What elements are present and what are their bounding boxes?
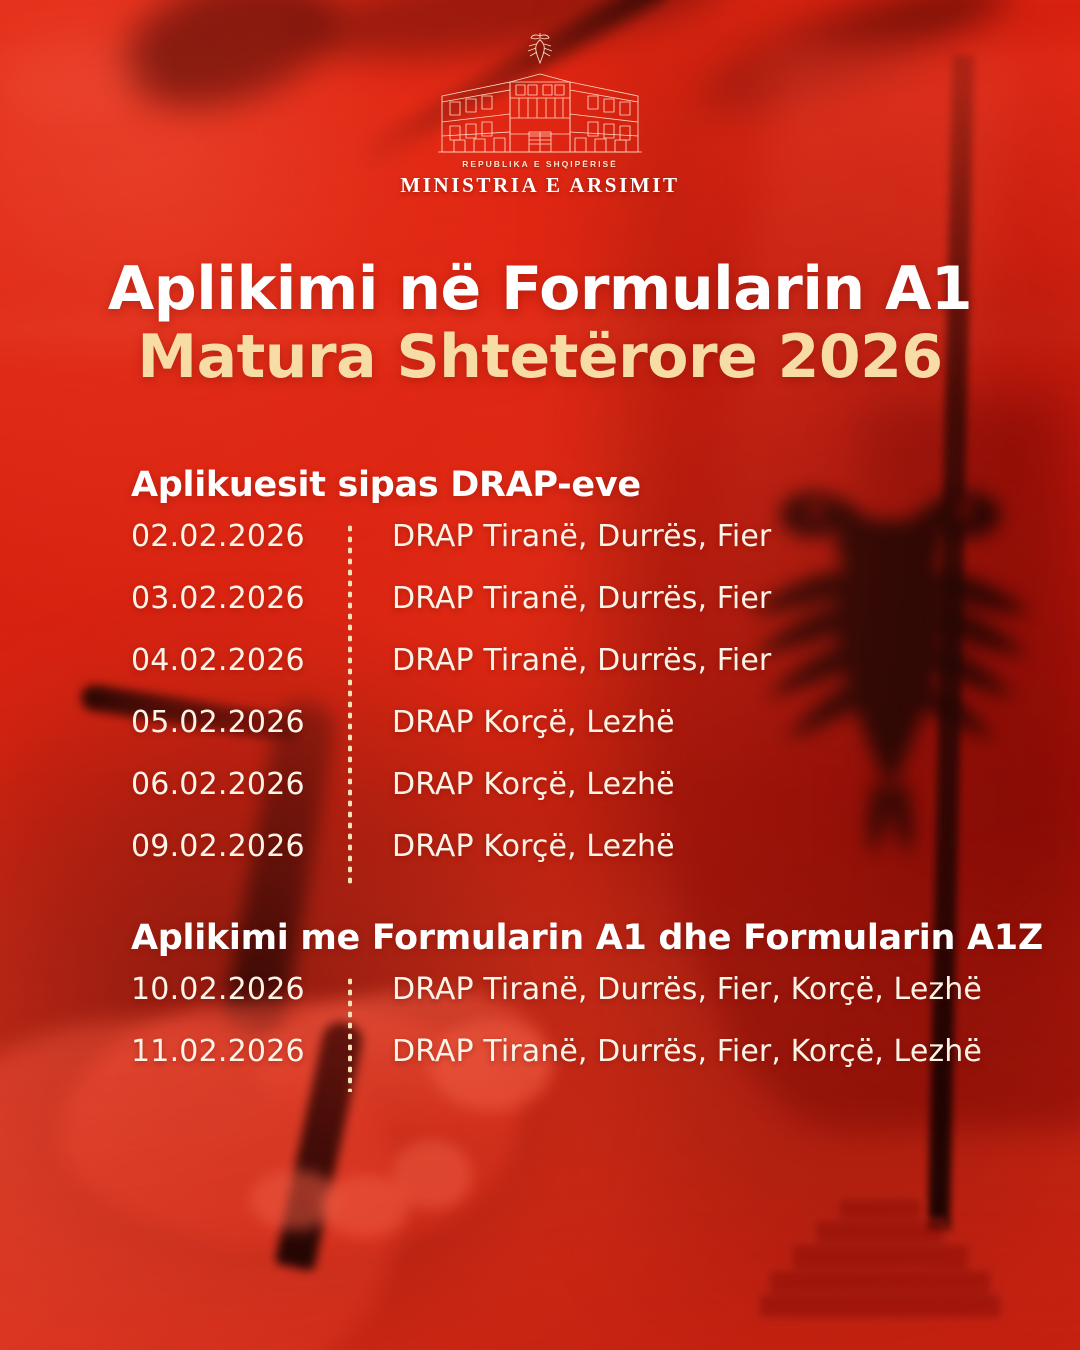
table-row: 06.02.2026 DRAP Korçë, Lezhë — [131, 767, 1040, 829]
row-location: DRAP Tiranë, Durrës, Fier — [348, 519, 771, 554]
row-date: 05.02.2026 — [131, 705, 348, 740]
table-row: 11.02.2026 DRAP Tiranë, Durrës, Fier, Ko… — [131, 1034, 1040, 1096]
poster-content: REPUBLIKA E SHQIPËRISË MINISTRIA E ARSIM… — [0, 0, 1080, 1350]
dotted-divider — [348, 976, 352, 1092]
row-date: 11.02.2026 — [131, 1034, 348, 1069]
table-row: 02.02.2026 DRAP Tiranë, Durrës, Fier — [131, 519, 1040, 581]
poster-title: Aplikimi në Formularin A1 Matura Shtetër… — [0, 258, 1080, 389]
ministry-logo: REPUBLIKA E SHQIPËRISË MINISTRIA E ARSIM… — [0, 30, 1080, 198]
row-date: 04.02.2026 — [131, 643, 348, 678]
schedule-rows: 10.02.2026 DRAP Tiranë, Durrës, Fier, Ko… — [131, 972, 1040, 1096]
albanian-eagle-crest-icon — [522, 30, 558, 66]
table-row: 05.02.2026 DRAP Korçë, Lezhë — [131, 705, 1040, 767]
row-location: DRAP Korçë, Lezhë — [348, 829, 675, 864]
title-line-2: Matura Shtetërore 2026 — [0, 326, 1080, 390]
ministry-building-icon — [424, 68, 656, 156]
row-date: 03.02.2026 — [131, 581, 348, 616]
dotted-divider — [348, 523, 352, 887]
row-location: DRAP Tiranë, Durrës, Fier, Korçë, Lezhë — [348, 972, 982, 1007]
schedule-rows: 02.02.2026 DRAP Tiranë, Durrës, Fier 03.… — [131, 519, 1040, 891]
title-line-1: Aplikimi në Formularin A1 — [0, 258, 1080, 322]
row-date: 02.02.2026 — [131, 519, 348, 554]
row-location: DRAP Korçë, Lezhë — [348, 767, 675, 802]
row-location: DRAP Tiranë, Durrës, Fier — [348, 643, 771, 678]
poster: REPUBLIKA E SHQIPËRISË MINISTRIA E ARSIM… — [0, 0, 1080, 1350]
schedule-section-applicants: Aplikuesit sipas DRAP-eve 02.02.2026 DRA… — [131, 465, 1040, 891]
table-row: 03.02.2026 DRAP Tiranë, Durrës, Fier — [131, 581, 1040, 643]
row-date: 09.02.2026 — [131, 829, 348, 864]
row-location: DRAP Korçë, Lezhë — [348, 705, 675, 740]
row-date: 10.02.2026 — [131, 972, 348, 1007]
section-heading: Aplikuesit sipas DRAP-eve — [131, 465, 1040, 505]
table-row: 04.02.2026 DRAP Tiranë, Durrës, Fier — [131, 643, 1040, 705]
republic-label: REPUBLIKA E SHQIPËRISË — [462, 159, 618, 169]
row-location: DRAP Tiranë, Durrës, Fier — [348, 581, 771, 616]
schedule-section-a1-a1z: Aplikimi me Formularin A1 dhe Formularin… — [131, 918, 1040, 1096]
table-row: 10.02.2026 DRAP Tiranë, Durrës, Fier, Ko… — [131, 972, 1040, 1034]
section-heading: Aplikimi me Formularin A1 dhe Formularin… — [131, 918, 1040, 958]
ministry-label: MINISTRIA E ARSIMIT — [400, 173, 679, 198]
row-location: DRAP Tiranë, Durrës, Fier, Korçë, Lezhë — [348, 1034, 982, 1069]
row-date: 06.02.2026 — [131, 767, 348, 802]
table-row: 09.02.2026 DRAP Korçë, Lezhë — [131, 829, 1040, 891]
